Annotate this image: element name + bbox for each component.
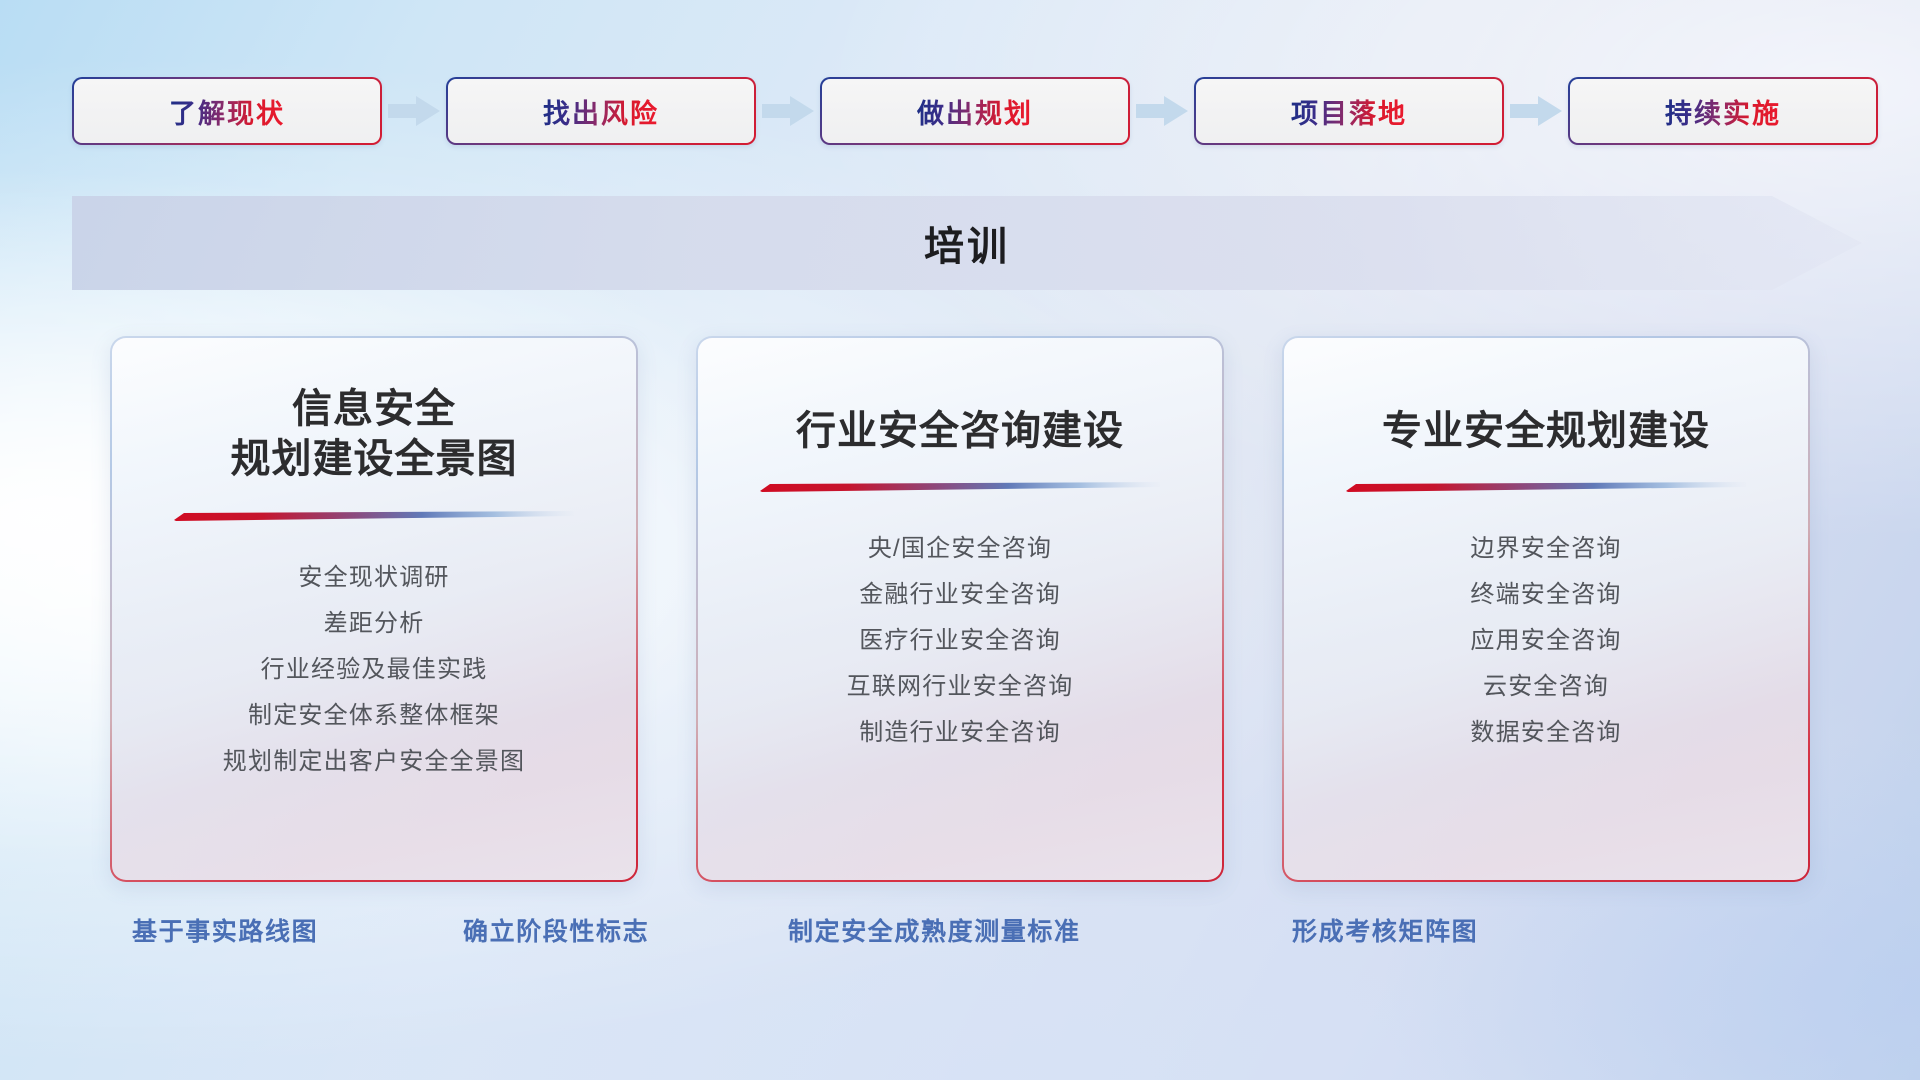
list-item: 金融行业安全咨询 bbox=[859, 580, 1061, 610]
arrow-right-icon-1 bbox=[386, 94, 442, 128]
card-inner-3: 专业安全规划建设 bbox=[1284, 338, 1808, 880]
training-title: 培训 bbox=[72, 196, 1862, 290]
gradient-divider-icon-2 bbox=[760, 482, 1160, 492]
stage-pill-2[interactable]: 找出风险 bbox=[446, 77, 756, 145]
caption-3: 制定安全成熟度测量标准 bbox=[788, 912, 1081, 948]
stage-label-5: 持续实施 bbox=[1665, 92, 1781, 131]
stage-pill-3[interactable]: 做出规划 bbox=[820, 77, 1130, 145]
list-item: 互联网行业安全咨询 bbox=[847, 672, 1074, 702]
stage-pill-inner-3: 做出规划 bbox=[822, 79, 1128, 143]
captions-row: 基于事实路线图 确立阶段性标志 制定安全成熟度测量标准 形成考核矩阵图 bbox=[0, 912, 1920, 958]
list-item: 行业经验及最佳实践 bbox=[261, 655, 488, 685]
list-item: 规划制定出客户安全全景图 bbox=[223, 747, 525, 777]
list-item: 终端安全咨询 bbox=[1470, 580, 1621, 610]
cards-row: 信息安全 规划建设全景图 bbox=[110, 336, 1810, 882]
arrow-right-icon-2 bbox=[760, 94, 816, 128]
card-title-3: 专业安全规划建设 bbox=[1366, 406, 1726, 456]
stage-pill-inner-5: 持续实施 bbox=[1570, 79, 1876, 143]
arrow-right-icon-4 bbox=[1508, 94, 1564, 128]
stage-flow-row: 了解现状 找出风险 做出规划 bbox=[72, 76, 1856, 146]
list-item: 制定安全体系整体框架 bbox=[248, 701, 500, 731]
list-item: 医疗行业安全咨询 bbox=[859, 626, 1061, 656]
card-list-3: 边界安全咨询 终端安全咨询 应用安全咨询 云安全咨询 数据安全咨询 bbox=[1284, 534, 1808, 748]
card-3[interactable]: 专业安全规划建设 bbox=[1282, 336, 1810, 882]
card-inner-2: 行业安全咨询建设 bbox=[698, 338, 1222, 880]
stage-pill-inner-4: 项目落地 bbox=[1196, 79, 1502, 143]
list-item: 数据安全咨询 bbox=[1470, 718, 1621, 748]
card-title-1: 信息安全 规划建设全景图 bbox=[215, 384, 534, 485]
stage-pill-inner-1: 了解现状 bbox=[74, 79, 380, 143]
gradient-divider-icon-3 bbox=[1346, 482, 1746, 492]
list-item: 制造行业安全咨询 bbox=[859, 718, 1061, 748]
card-list-2: 央/国企安全咨询 金融行业安全咨询 医疗行业安全咨询 互联网行业安全咨询 制造行… bbox=[698, 534, 1222, 748]
stage-pill-4[interactable]: 项目落地 bbox=[1194, 77, 1504, 145]
stage-pill-5[interactable]: 持续实施 bbox=[1568, 77, 1878, 145]
card-list-1: 安全现状调研 差距分析 行业经验及最佳实践 制定安全体系整体框架 规划制定出客户… bbox=[112, 563, 636, 777]
list-item: 央/国企安全咨询 bbox=[868, 534, 1052, 564]
caption-1: 基于事实路线图 bbox=[132, 912, 318, 948]
list-item: 安全现状调研 bbox=[298, 563, 449, 593]
caption-4: 形成考核矩阵图 bbox=[1292, 912, 1478, 948]
card-1[interactable]: 信息安全 规划建设全景图 bbox=[110, 336, 638, 882]
stage-pill-inner-2: 找出风险 bbox=[448, 79, 754, 143]
list-item: 应用安全咨询 bbox=[1470, 626, 1621, 656]
gradient-divider-icon-1 bbox=[174, 511, 574, 521]
arrow-right-icon-3 bbox=[1134, 94, 1190, 128]
list-item: 边界安全咨询 bbox=[1470, 534, 1621, 564]
stage-label-2: 找出风险 bbox=[543, 92, 659, 131]
stage-label-4: 项目落地 bbox=[1291, 92, 1407, 131]
stage-pill-1[interactable]: 了解现状 bbox=[72, 77, 382, 145]
list-item: 差距分析 bbox=[324, 609, 425, 639]
caption-2: 确立阶段性标志 bbox=[463, 912, 649, 948]
stage-label-1: 了解现状 bbox=[169, 92, 285, 131]
list-item: 云安全咨询 bbox=[1483, 672, 1609, 702]
card-inner-1: 信息安全 规划建设全景图 bbox=[112, 338, 636, 880]
card-title-2: 行业安全咨询建设 bbox=[780, 406, 1140, 456]
stage-label-3: 做出规划 bbox=[917, 92, 1033, 131]
training-banner: 培训 bbox=[72, 196, 1862, 290]
slide-root: 了解现状 找出风险 做出规划 bbox=[0, 0, 1920, 1080]
card-2[interactable]: 行业安全咨询建设 bbox=[696, 336, 1224, 882]
